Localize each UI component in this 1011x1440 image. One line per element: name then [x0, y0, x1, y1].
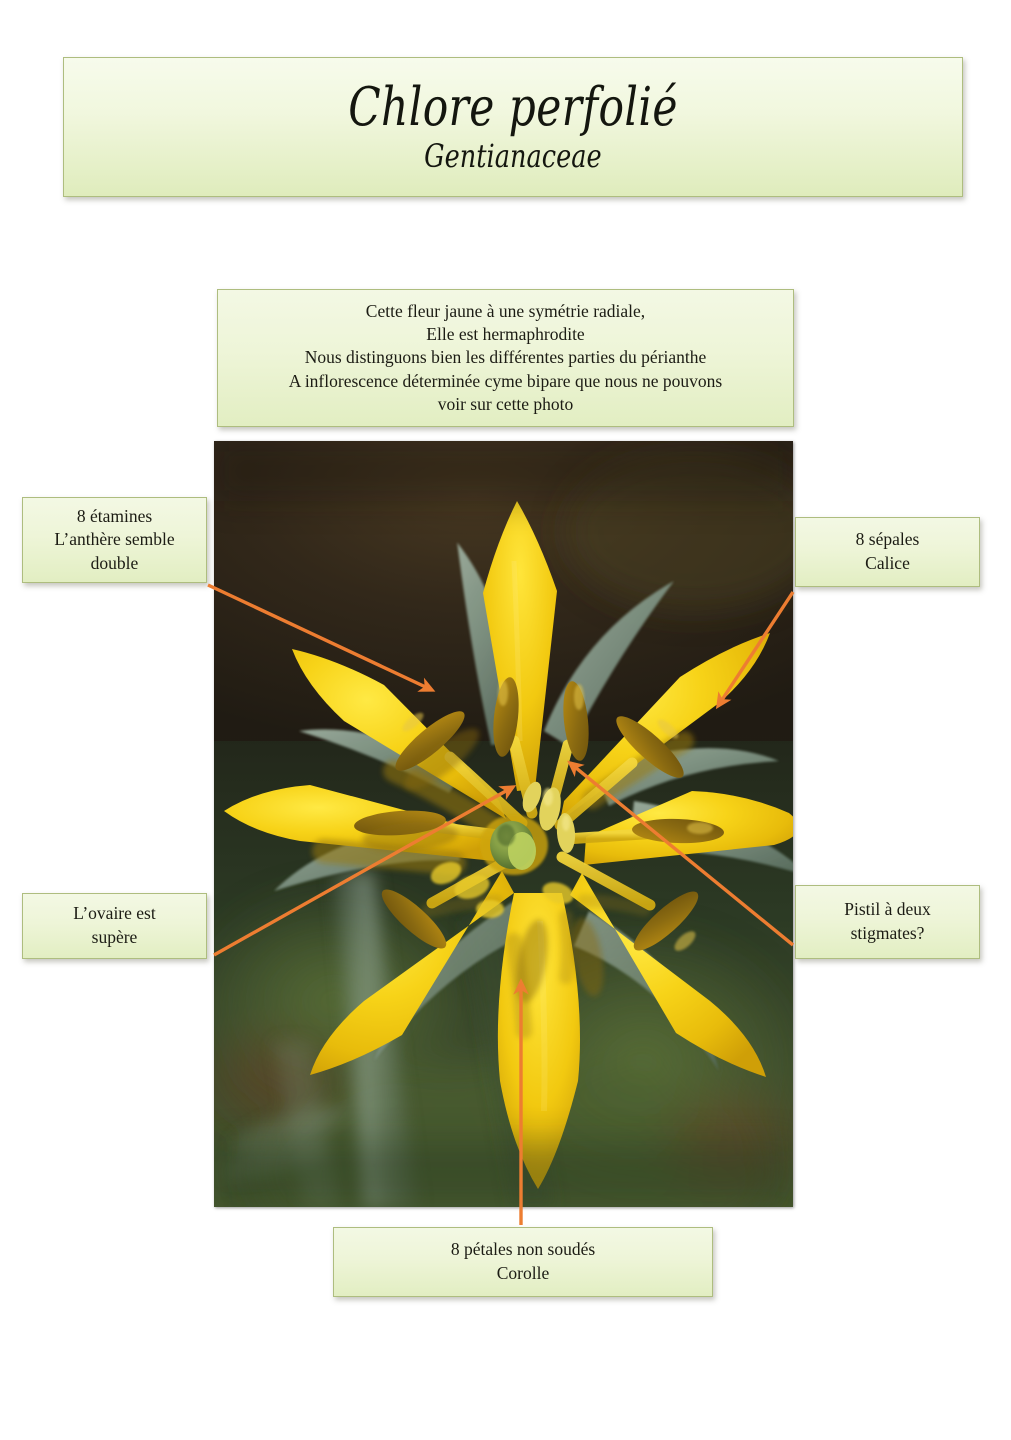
poster-page: Chlore perfolié Gentianaceae Cette fleur…: [0, 0, 1011, 1440]
callout-petales-text: 8 pétales non soudés Corolle: [451, 1238, 595, 1285]
callout-sepales: 8 sépales Calice: [795, 517, 980, 587]
callout-petales: 8 pétales non soudés Corolle: [333, 1227, 713, 1297]
callout-pistil-text: Pistil à deux stigmates?: [844, 898, 931, 945]
title-box: Chlore perfolié Gentianaceae: [63, 57, 963, 197]
callout-ovaire: L’ovaire est supère: [22, 893, 207, 959]
family-name: Gentianaceae: [424, 139, 601, 174]
description-text: Cette fleur jaune à une symétrie radiale…: [289, 300, 722, 415]
callout-etamines: 8 étamines L’anthère semble double: [22, 497, 207, 583]
callout-pistil: Pistil à deux stigmates?: [795, 885, 980, 959]
flower-photo: [214, 441, 793, 1207]
callout-ovaire-text: L’ovaire est supère: [73, 902, 155, 949]
description-box: Cette fleur jaune à une symétrie radiale…: [217, 289, 794, 427]
flower-illustration: [214, 441, 793, 1207]
callout-etamines-text: 8 étamines L’anthère semble double: [54, 505, 174, 576]
callout-sepales-text: 8 sépales Calice: [856, 528, 920, 575]
page-title: Chlore perfolié: [348, 80, 678, 136]
